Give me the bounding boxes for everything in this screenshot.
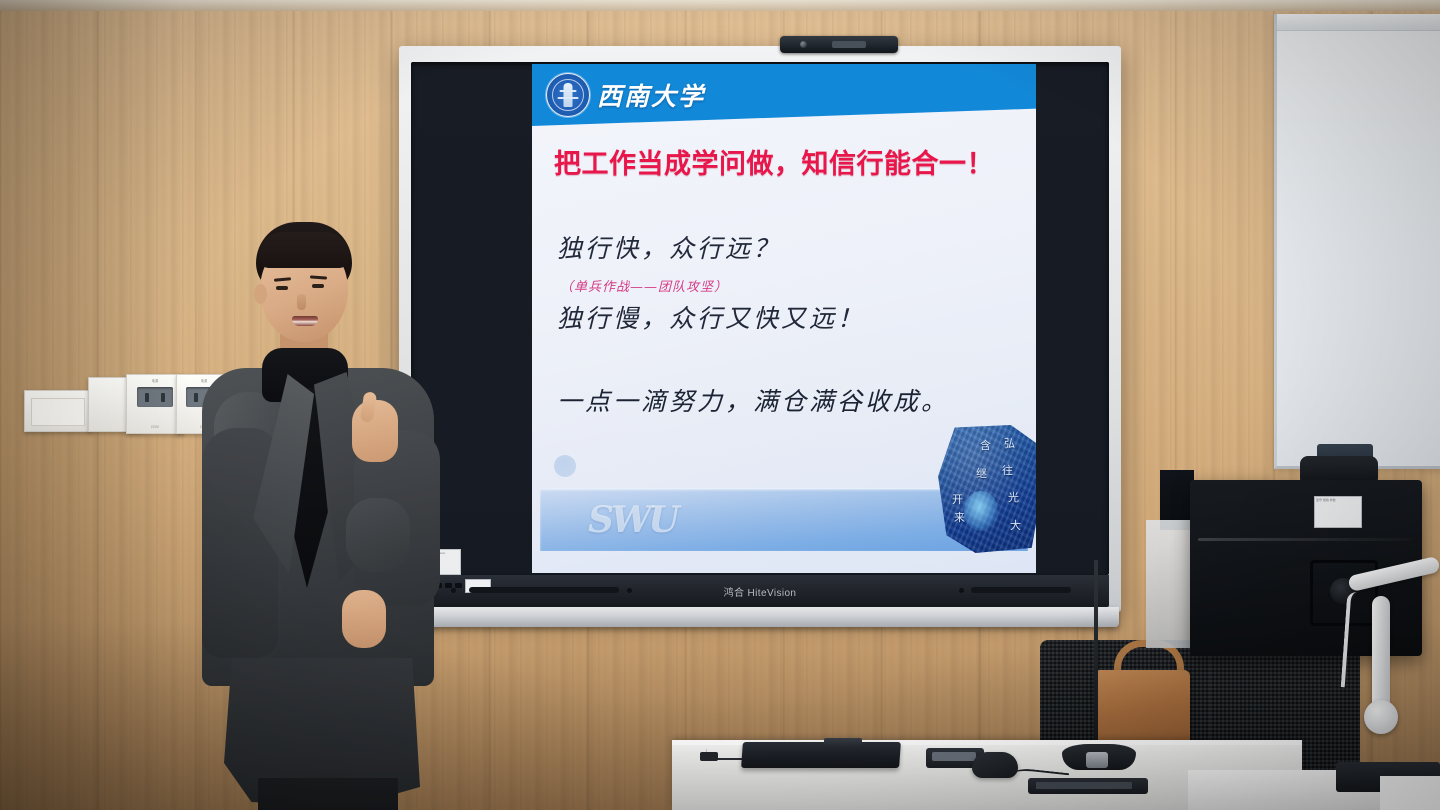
laptop-plug bbox=[700, 752, 718, 761]
presenter-ear bbox=[254, 284, 267, 304]
presenter bbox=[196, 222, 458, 810]
microphone-stem bbox=[1094, 560, 1098, 748]
stone-char-2: 弘 bbox=[1004, 435, 1015, 451]
presenter-eye-right bbox=[312, 284, 324, 288]
bezel-sensor-icon bbox=[959, 588, 964, 593]
plate-badge bbox=[31, 398, 85, 426]
slide-title: 把工作当成学问做，知信行能合一！ bbox=[554, 142, 1024, 181]
monitor-arm-joint[interactable] bbox=[1364, 700, 1398, 734]
bezel-speaker-grille bbox=[469, 587, 619, 593]
display-brand: 鸿合 HiteVision bbox=[724, 584, 797, 599]
ceiling-trim bbox=[0, 0, 1440, 11]
slide-line-1: 独行快，众行远？ bbox=[557, 229, 781, 265]
presenter-hair-front bbox=[258, 232, 350, 268]
stone-char-4: 往 bbox=[1002, 462, 1013, 478]
stone-char-8: 大 bbox=[1010, 517, 1021, 533]
swu-seal-logo-icon bbox=[546, 73, 590, 117]
wall-switch-plate[interactable] bbox=[24, 390, 92, 432]
presenter-eye-left bbox=[276, 286, 288, 290]
power-socket-icon bbox=[137, 387, 173, 407]
university-branding: 西南大学 bbox=[546, 73, 705, 117]
outlet-top-label: 电源 bbox=[127, 378, 183, 383]
usb-stick[interactable] bbox=[824, 738, 862, 749]
presenter-nose bbox=[297, 294, 306, 310]
stone-char-3: 继 bbox=[976, 465, 987, 481]
slide-banner: 西南大学 bbox=[532, 64, 1036, 126]
outlet-bottom-label: 220V bbox=[127, 425, 183, 429]
camera-lens-icon bbox=[800, 41, 807, 48]
slide-bullet-dot bbox=[554, 455, 576, 477]
presenter-mouth bbox=[292, 316, 318, 326]
presenter-legs bbox=[258, 778, 398, 810]
campus-stone-monument: 含 弘 继 往 开 光 来 大 bbox=[936, 425, 1036, 553]
power-strip[interactable] bbox=[1028, 778, 1148, 794]
slide-line-2: 独行慢，众行又快又远！ bbox=[557, 299, 865, 335]
stone-highlight bbox=[964, 491, 998, 531]
laptop[interactable] bbox=[741, 742, 901, 768]
bezel-speaker-grille bbox=[971, 587, 1071, 593]
bezel-sensor-icon bbox=[627, 588, 632, 593]
display-tray bbox=[401, 607, 1119, 627]
presentation-slide: 西南大学 把工作当成学问做，知信行能合一！ 独行快，众行远？ （单兵作战——团队… bbox=[532, 64, 1036, 573]
paper-sheet bbox=[1380, 776, 1440, 810]
whiteboard-top-rail bbox=[1277, 14, 1440, 31]
stone-char-6: 光 bbox=[1008, 489, 1019, 505]
classroom-scene: 电源 220V 电源 220V 西南大学 bbox=[0, 0, 1440, 810]
slide-line-3: 一点一滴努力，满仓满谷收成。 bbox=[557, 382, 949, 418]
coat-fold bbox=[346, 498, 410, 572]
interactive-display[interactable]: 西南大学 把工作当成学问做，知信行能合一！ 独行快，众行远？ （单兵作战——团队… bbox=[399, 46, 1121, 612]
monitor-seam bbox=[1198, 538, 1412, 541]
camera-icon bbox=[780, 36, 898, 53]
swu-watermark: SWU bbox=[588, 499, 677, 541]
display-bezel: 鸿合科技 HiteVision 鸿合 HiteVision bbox=[411, 575, 1109, 607]
monitor-arm-lower[interactable] bbox=[1372, 596, 1390, 716]
presenter-hand-raised bbox=[352, 400, 398, 462]
stone-char-1: 含 bbox=[980, 437, 991, 453]
mic-connector bbox=[1086, 752, 1108, 768]
university-name: 西南大学 bbox=[597, 77, 705, 113]
seal-tower-icon bbox=[564, 83, 573, 107]
presenter-hand-lower bbox=[342, 590, 386, 648]
stone-char-5: 开 bbox=[952, 491, 963, 507]
monitor-sticker: 型号 规格 参数 bbox=[1314, 496, 1362, 528]
slide-line-note: （单兵作战——团队攻坚） bbox=[560, 276, 728, 295]
whiteboard-panel bbox=[1274, 14, 1440, 469]
panel-edge bbox=[1146, 520, 1194, 648]
display-screen[interactable]: 西南大学 把工作当成学问做，知信行能合一！ 独行快，众行远？ （单兵作战——团队… bbox=[411, 62, 1109, 575]
